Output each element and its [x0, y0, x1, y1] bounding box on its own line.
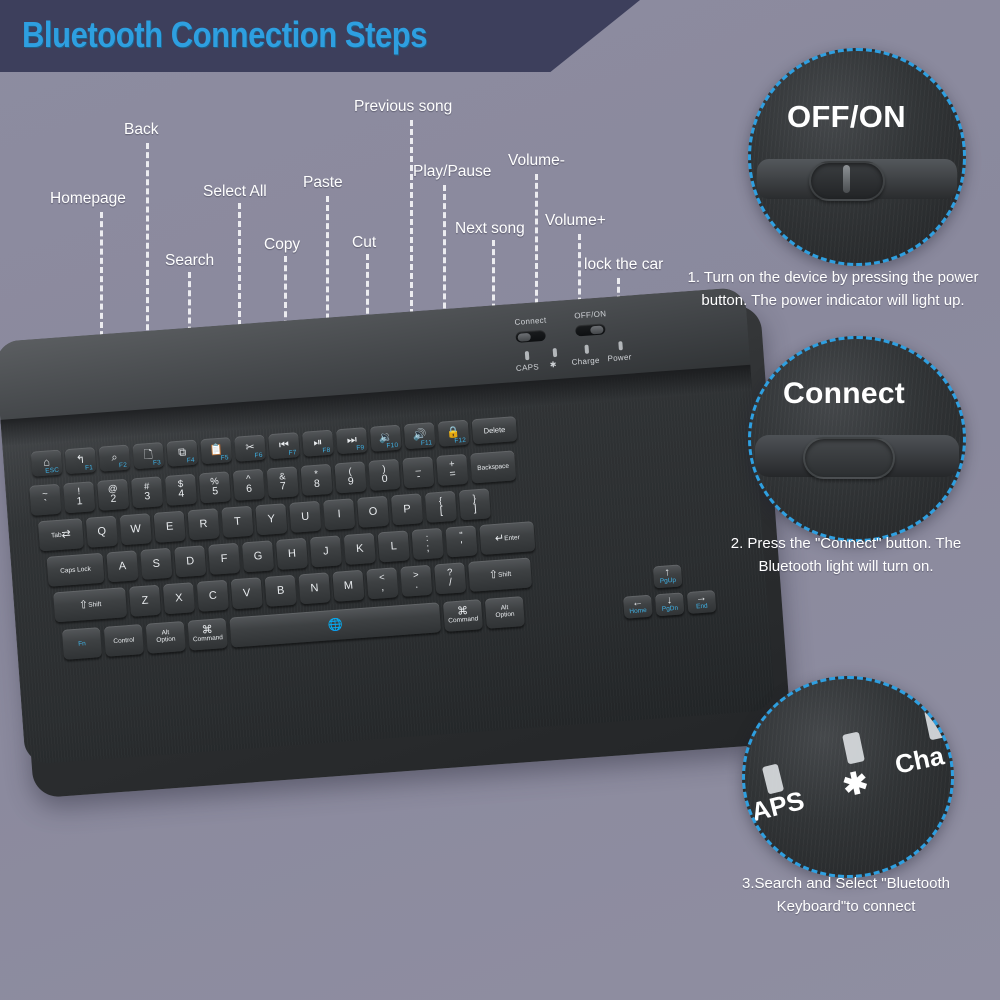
- indicator-lights-inset: APS ✱ Cha: [742, 676, 954, 878]
- key-6[interactable]: ^6: [233, 469, 265, 501]
- key-quote[interactable]: "': [445, 525, 477, 557]
- enter-key[interactable]: ↵Enter: [479, 521, 535, 555]
- callout-volume-up: Volume+: [545, 212, 606, 230]
- key-h[interactable]: H: [276, 538, 308, 570]
- next-song-key[interactable]: ⏭F9: [336, 427, 368, 454]
- key-t[interactable]: T: [221, 506, 253, 538]
- arrow-down-key[interactable]: ↓PgDn: [655, 592, 685, 616]
- callout-cut: Cut: [352, 234, 376, 252]
- callout-search: Search: [165, 252, 214, 270]
- step-3-caption: 3.Search and Select "Bluetooth Keyboard"…: [700, 872, 992, 919]
- play-pause-key[interactable]: ⏯F8: [302, 430, 334, 457]
- key-u[interactable]: U: [289, 501, 321, 533]
- homepage-key[interactable]: ⌂ESC: [31, 450, 63, 477]
- key-slash[interactable]: ?/: [434, 562, 466, 594]
- callout-select-all: Select All: [203, 183, 267, 201]
- key-a[interactable]: A: [106, 550, 138, 582]
- key-o[interactable]: O: [357, 496, 389, 528]
- left-shift-key[interactable]: ⇧Shift: [53, 587, 127, 622]
- callout-homepage: Homepage: [50, 190, 126, 208]
- key-r[interactable]: R: [188, 508, 220, 540]
- charge-led: [584, 345, 589, 354]
- arrow-bottom-row: ←Home ↓PgDn →End: [623, 590, 720, 619]
- backspace-key[interactable]: Backspace: [470, 450, 516, 483]
- bluetooth-led: [553, 348, 558, 357]
- key-i[interactable]: I: [323, 498, 355, 530]
- page-title: Bluetooth Connection Steps: [22, 14, 427, 56]
- step-1-caption: 1. Turn on the device by pressing the po…: [672, 266, 994, 313]
- key-z[interactable]: Z: [129, 585, 161, 617]
- callout-back: Back: [124, 121, 158, 139]
- key-semicolon[interactable]: :;: [412, 528, 444, 560]
- arrow-up-row: ↑PgUp: [653, 564, 687, 588]
- power-switch[interactable]: [575, 323, 606, 336]
- arrow-right-key[interactable]: →End: [687, 590, 717, 614]
- power-inset-title: OFF/ON: [787, 99, 906, 135]
- volume-up-key[interactable]: 🔊F11: [404, 422, 436, 449]
- key-9[interactable]: (9: [334, 461, 366, 493]
- lock-key[interactable]: 🔒F12: [438, 420, 470, 447]
- key-p[interactable]: P: [391, 493, 423, 525]
- key-comma[interactable]: <,: [366, 567, 398, 599]
- paste-key[interactable]: 📋F5: [200, 437, 232, 464]
- right-command-key[interactable]: ⌘Command: [443, 599, 483, 632]
- connect-button-inset: Connect: [748, 336, 966, 542]
- select-all-key[interactable]: 🗋F3: [133, 442, 165, 469]
- key-5[interactable]: %5: [199, 471, 231, 503]
- control-key[interactable]: Control: [104, 624, 144, 657]
- copy-key[interactable]: ⧉F4: [166, 440, 198, 467]
- key-q[interactable]: Q: [86, 516, 118, 548]
- left-option-key[interactable]: AltOption: [146, 621, 186, 654]
- key-c[interactable]: C: [197, 580, 229, 612]
- callout-copy: Copy: [264, 236, 300, 254]
- search-key[interactable]: ⌕F2: [99, 445, 131, 472]
- power-indicator-label: Power: [607, 352, 632, 363]
- key-f[interactable]: F: [208, 543, 240, 575]
- step-2-caption: 2. Press the "Connect" button. The Bluet…: [700, 532, 992, 579]
- key-bracket-right[interactable]: }]: [459, 488, 491, 520]
- cut-key[interactable]: ✂F6: [234, 435, 266, 462]
- arrow-up-key[interactable]: ↑PgUp: [653, 564, 683, 588]
- back-key[interactable]: ↰F1: [65, 447, 97, 474]
- keyboard-image: Connect OFF/ON CAPS ✱ Charge Power ⌂ESC …: [0, 284, 817, 811]
- callout-volume-down: Volume-: [508, 152, 565, 170]
- connect-switch[interactable]: [515, 330, 546, 343]
- callout-paste: Paste: [303, 174, 343, 192]
- fn-key[interactable]: Fn: [62, 627, 102, 660]
- key-2[interactable]: @2: [97, 479, 129, 511]
- key-l[interactable]: L: [378, 530, 410, 562]
- previous-song-key[interactable]: ⏮F7: [268, 432, 300, 459]
- caps-led: [525, 351, 530, 360]
- bluetooth-icon: ✱: [549, 360, 557, 369]
- tab-key[interactable]: Tab⇄: [38, 518, 84, 551]
- volume-down-key[interactable]: 🔉F10: [370, 425, 402, 452]
- key-j[interactable]: J: [310, 535, 342, 567]
- callout-next-song: Next song: [455, 220, 525, 238]
- key-0[interactable]: )0: [368, 459, 400, 491]
- key-n[interactable]: N: [298, 572, 330, 604]
- key-g[interactable]: G: [242, 540, 274, 572]
- infographic-canvas: Bluetooth Connection Steps Homepage Back…: [0, 0, 1000, 1000]
- key-x[interactable]: X: [163, 582, 195, 614]
- callout-lock: lock the car: [584, 256, 663, 274]
- connect-inset-title: Connect: [783, 377, 905, 411]
- connect-button-pill[interactable]: [803, 437, 895, 479]
- globe-icon: 🌐: [327, 617, 343, 632]
- key-b[interactable]: B: [265, 575, 297, 607]
- power-switch-nub: [843, 165, 850, 193]
- key-period[interactable]: >.: [400, 565, 432, 597]
- key-y[interactable]: Y: [255, 503, 287, 535]
- key-7[interactable]: &7: [267, 466, 299, 498]
- spacebar-key[interactable]: 🌐: [229, 602, 441, 647]
- key-k[interactable]: K: [344, 533, 376, 565]
- key-d[interactable]: D: [174, 545, 206, 577]
- key-4[interactable]: $4: [165, 474, 197, 506]
- key-bracket-left[interactable]: {[: [425, 491, 457, 523]
- power-led: [618, 341, 623, 350]
- delete-key[interactable]: Delete: [472, 416, 518, 444]
- key-v[interactable]: V: [231, 577, 263, 609]
- power-switch-inset: OFF/ON: [748, 48, 966, 266]
- right-shift-key[interactable]: ⇧Shift: [468, 557, 532, 591]
- caps-lock-key[interactable]: Caps Lock: [47, 553, 105, 587]
- keyboard-body: Connect OFF/ON CAPS ✱ Charge Power ⌂ESC …: [0, 287, 776, 765]
- key-minus[interactable]: _-: [402, 456, 434, 488]
- key-8[interactable]: *8: [301, 464, 333, 496]
- callout-play-pause: Play/Pause: [413, 163, 491, 181]
- key-3[interactable]: #3: [131, 476, 163, 508]
- key-1[interactable]: !1: [63, 481, 95, 513]
- arrow-left-key[interactable]: ←Home: [623, 595, 653, 619]
- key-e[interactable]: E: [154, 511, 186, 543]
- caps-indicator-label: CAPS: [516, 362, 540, 373]
- callout-previous-song: Previous song: [354, 98, 452, 116]
- key-s[interactable]: S: [140, 548, 172, 580]
- key-equals[interactable]: +=: [436, 454, 468, 486]
- key-tilde[interactable]: ~`: [29, 484, 61, 516]
- left-command-key[interactable]: ⌘Command: [188, 618, 228, 651]
- right-option-key[interactable]: AltOption: [485, 596, 525, 629]
- key-w[interactable]: W: [120, 513, 152, 545]
- key-m[interactable]: M: [332, 570, 364, 602]
